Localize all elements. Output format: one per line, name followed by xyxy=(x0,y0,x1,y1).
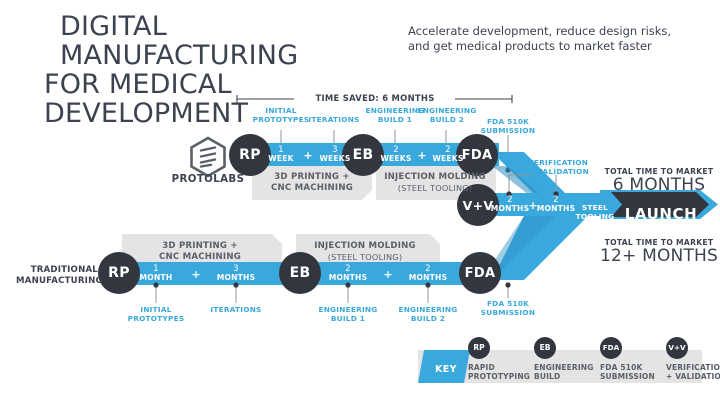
traditional-callout-engineering-build-2: ENGINEERING BUILD 2 xyxy=(391,306,465,323)
key-title: KEY xyxy=(428,364,464,375)
traditional-callout-engineering-build-1: ENGINEERING BUILD 1 xyxy=(311,306,385,323)
traditional-phase-2-label: INJECTION MOLDING (STEEL TOOLING) xyxy=(298,241,432,262)
traditional-duration-2: 3 MONTHS xyxy=(213,265,259,282)
traditional-duration-3: 2 MONTHS xyxy=(325,265,371,282)
traditional-node-eb-label: EB xyxy=(280,265,320,281)
key-item-rapid-prototyping: RAPID PROTOTYPING xyxy=(468,363,534,381)
traditional-callout-leaders xyxy=(156,286,508,303)
page-subtitle-line-1: Accelerate development, reduce design ri… xyxy=(408,24,708,39)
digital-phase-2-label: INJECTION MOLDING (STEEL TOOLING) xyxy=(378,172,492,193)
digital-callout-fda-510k-submission: FDA 510K SUBMISSION xyxy=(476,118,540,135)
protolabs-wordmark: PROTOLABS xyxy=(168,174,248,185)
page-subtitle: Accelerate development, reduce design ri… xyxy=(408,24,708,54)
traditional-duration-4: 2 MONTHS xyxy=(405,265,451,282)
traditional-phase-1-label: 3D PRINTING + CNC MACHINING xyxy=(126,241,274,262)
digital-total-time-to-market: TOTAL TIME TO MARKET 6 MONTHS xyxy=(600,167,718,195)
traditional-plus-2: + xyxy=(378,268,398,281)
digital-phase-1-label: 3D PRINTING + CNC MACHINING xyxy=(256,172,368,193)
digital-duration-4: 2 WEEKS xyxy=(425,146,471,163)
page-subtitle-line-2: and get medical products to market faste… xyxy=(408,39,708,54)
digital-duration-2: 3 WEEKS xyxy=(312,146,358,163)
traditional-node-fda-label: FDA xyxy=(457,266,503,281)
key-item-verification-validation: VERIFICATION + VALIDATION xyxy=(666,363,720,381)
key-node-vv-label: V+V xyxy=(662,343,692,352)
traditional-callout-iterations: ITERATIONS xyxy=(204,306,268,315)
traditional-plus-1: + xyxy=(186,268,206,281)
traditional-callout-initial-prototypes: INITIAL PROTOTYPES xyxy=(121,306,191,323)
traditional-total-time-to-market: TOTAL TIME TO MARKET 12+ MONTHS xyxy=(600,238,718,266)
key-item-fda-510k-submission: FDA 510K SUBMISSION xyxy=(600,363,666,381)
vv-steel-tooling-label: STEEL TOOLING xyxy=(572,204,618,221)
traditional-to-vv-connector xyxy=(492,216,588,280)
key-node-fda-label: FDA xyxy=(596,343,626,352)
traditional-duration-1: 1 MONTH xyxy=(133,265,179,282)
digital-callout-iterations: ITERATIONS xyxy=(302,116,366,125)
digital-callout-engineering-build-2: ENGINEERING BUILD 2 xyxy=(410,107,484,124)
key-item-engineering-build: ENGINEERING BUILD xyxy=(534,363,600,381)
page-title-line-1: DIGITAL MANUFACTURING xyxy=(60,11,298,71)
time-saved-label: TIME SAVED: 6 MONTHS xyxy=(300,93,450,103)
key-node-eb-label: EB xyxy=(530,343,560,352)
key-node-rp-label: RP xyxy=(464,343,494,352)
traditional-track-label: TRADITIONAL MANUFACTURING xyxy=(16,265,98,286)
traditional-callout-fda-510k-submission: FDA 510K SUBMISSION xyxy=(476,300,540,317)
launch-label: LAUNCH xyxy=(620,205,702,223)
vv-callout-verification-validation: VERIFICATION + VALIDATION xyxy=(528,159,608,176)
protolabs-hexagon-icon xyxy=(192,138,225,176)
